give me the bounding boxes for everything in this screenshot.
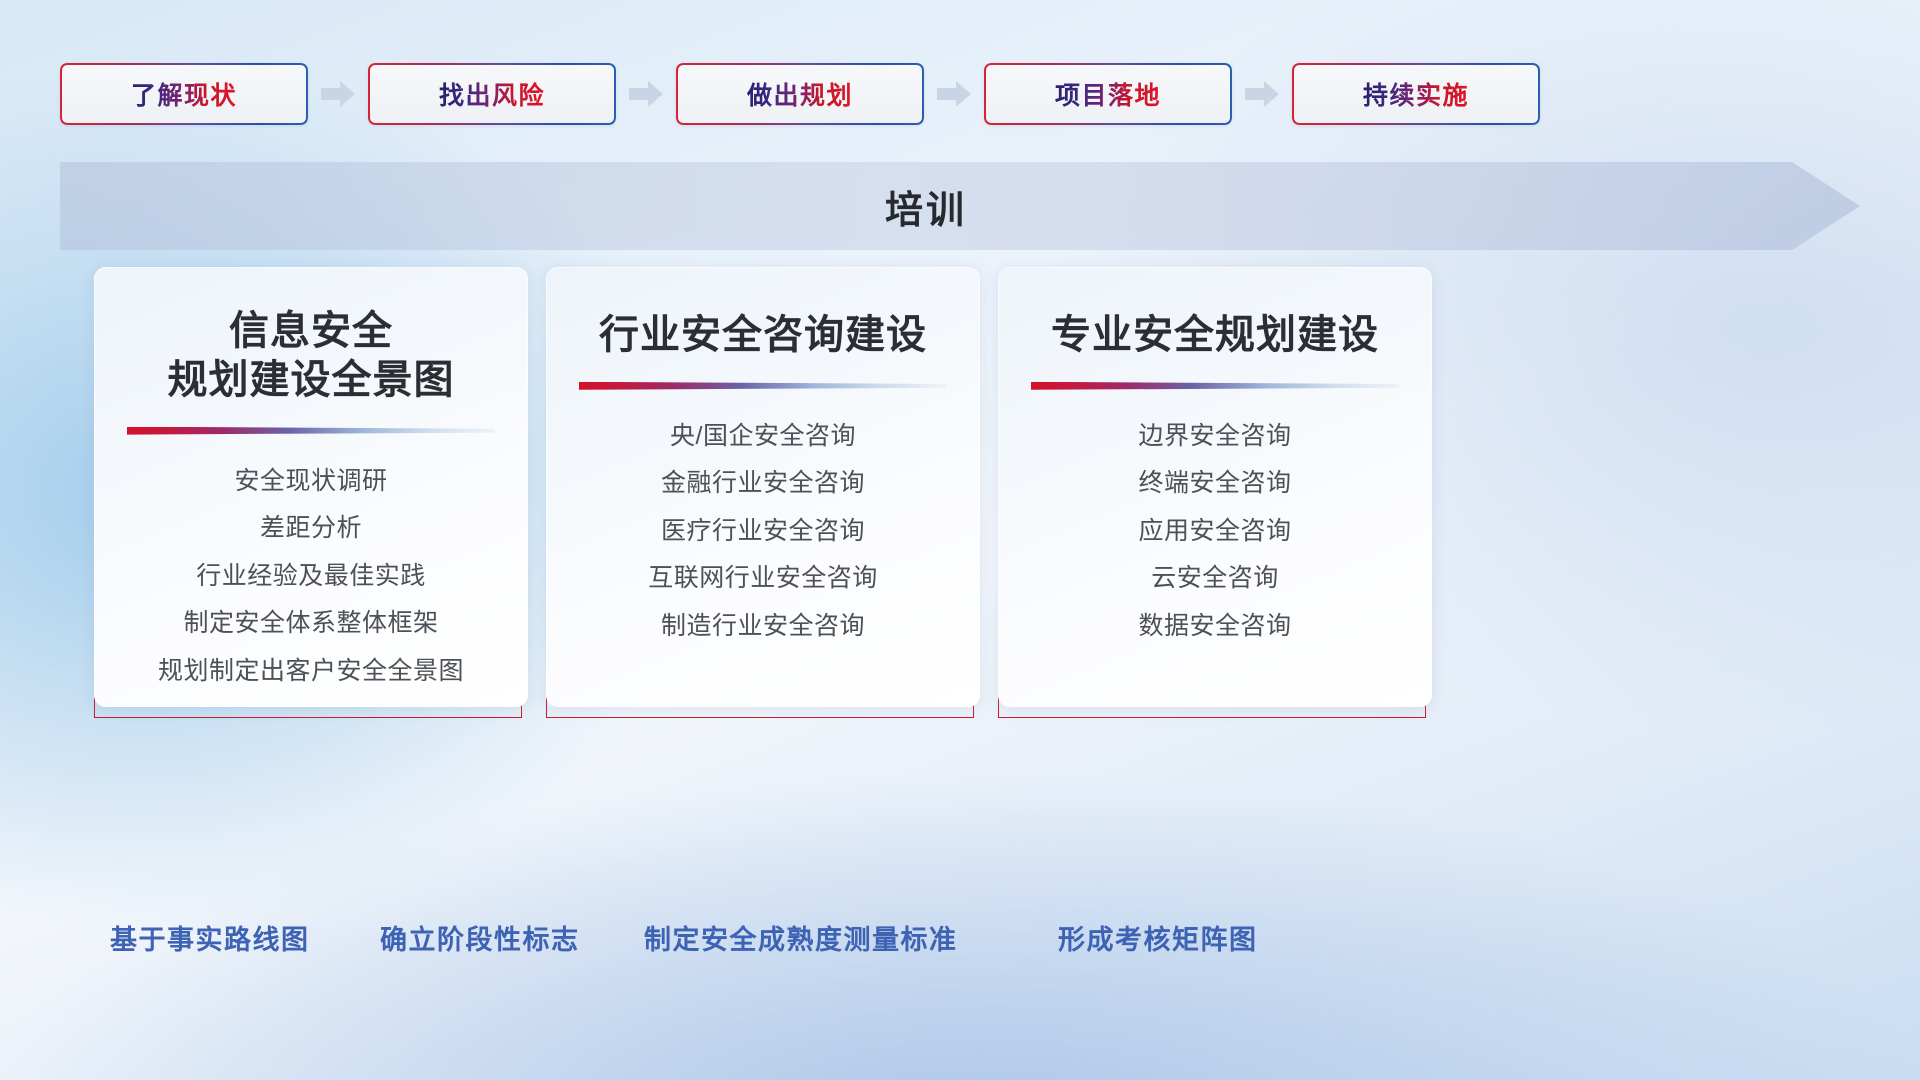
card-list-item: 数据安全咨询: [1138, 606, 1291, 647]
card-list-item: 规划制定出客户安全全景图: [158, 651, 464, 692]
process-step-2[interactable]: 找出风险: [368, 63, 616, 125]
card-list-item: 差距分析: [260, 508, 362, 549]
card-divider: [1031, 382, 1399, 390]
service-card-2[interactable]: 行业安全咨询建设央/国企安全咨询金融行业安全咨询医疗行业安全咨询互联网行业安全咨…: [546, 272, 974, 718]
card-list-item: 终端安全咨询: [1138, 463, 1291, 504]
card-list-item: 制造行业安全咨询: [661, 606, 865, 647]
process-step-label: 项目落地: [1055, 76, 1161, 112]
process-step-label: 持续实施: [1363, 76, 1469, 112]
caption-3: 制定安全成熟度测量标准: [644, 918, 958, 957]
process-step-5[interactable]: 持续实施: [1292, 63, 1540, 125]
caption-4: 形成考核矩阵图: [1058, 918, 1258, 957]
card-list-item: 行业经验及最佳实践: [196, 556, 426, 597]
caption-2: 确立阶段性标志: [380, 918, 580, 957]
training-banner-label: 培训: [60, 162, 1792, 250]
card-item-list: 边界安全咨询终端安全咨询应用安全咨询云安全咨询数据安全咨询: [1138, 416, 1291, 647]
card-list-item: 央/国企安全咨询: [670, 416, 856, 457]
card-list-item: 安全现状调研: [234, 461, 387, 502]
training-banner: 培训: [60, 162, 1860, 250]
process-step-1[interactable]: 了解现状: [60, 63, 308, 125]
process-step-label: 了解现状: [131, 76, 237, 112]
card-title: 专业安全规划建设: [1051, 311, 1379, 360]
caption-row: 基于事实路线图确立阶段性标志制定安全成熟度测量标准形成考核矩阵图: [0, 918, 1920, 974]
caption-1: 基于事实路线图: [110, 918, 310, 957]
process-step-label: 找出风险: [439, 76, 545, 112]
card-list-item: 医疗行业安全咨询: [661, 511, 865, 552]
card-title: 行业安全咨询建设: [599, 311, 927, 360]
card-title: 信息安全 规划建设全景图: [168, 307, 455, 405]
process-step-label: 做出规划: [747, 76, 853, 112]
chevron-right-arrow-icon: [937, 81, 971, 107]
card-divider: [579, 382, 947, 390]
process-step-4[interactable]: 项目落地: [984, 63, 1232, 125]
chevron-right-arrow-icon: [321, 81, 355, 107]
process-step-3[interactable]: 做出规划: [676, 63, 924, 125]
process-step-row: 了解现状找出风险做出规划项目落地持续实施: [60, 63, 1860, 125]
card-panel: 专业安全规划建设边界安全咨询终端安全咨询应用安全咨询云安全咨询数据安全咨询: [998, 267, 1432, 707]
card-row: 信息安全 规划建设全景图安全现状调研差距分析行业经验及最佳实践制定安全体系整体框…: [94, 272, 1828, 718]
card-list-item: 边界安全咨询: [1138, 416, 1291, 457]
card-list-item: 金融行业安全咨询: [661, 463, 865, 504]
card-list-item: 云安全咨询: [1151, 558, 1279, 599]
card-panel: 信息安全 规划建设全景图安全现状调研差距分析行业经验及最佳实践制定安全体系整体框…: [94, 267, 528, 707]
card-item-list: 央/国企安全咨询金融行业安全咨询医疗行业安全咨询互联网行业安全咨询制造行业安全咨…: [648, 416, 878, 647]
service-card-3[interactable]: 专业安全规划建设边界安全咨询终端安全咨询应用安全咨询云安全咨询数据安全咨询: [998, 272, 1426, 718]
card-item-list: 安全现状调研差距分析行业经验及最佳实践制定安全体系整体框架规划制定出客户安全全景…: [158, 461, 464, 692]
chevron-right-arrow-icon: [1245, 81, 1279, 107]
chevron-right-arrow-icon: [629, 81, 663, 107]
card-list-item: 应用安全咨询: [1138, 511, 1291, 552]
card-list-item: 制定安全体系整体框架: [183, 603, 438, 644]
card-list-item: 互联网行业安全咨询: [648, 558, 878, 599]
card-divider: [127, 427, 495, 435]
service-card-1[interactable]: 信息安全 规划建设全景图安全现状调研差距分析行业经验及最佳实践制定安全体系整体框…: [94, 272, 522, 718]
card-panel: 行业安全咨询建设央/国企安全咨询金融行业安全咨询医疗行业安全咨询互联网行业安全咨…: [546, 267, 980, 707]
